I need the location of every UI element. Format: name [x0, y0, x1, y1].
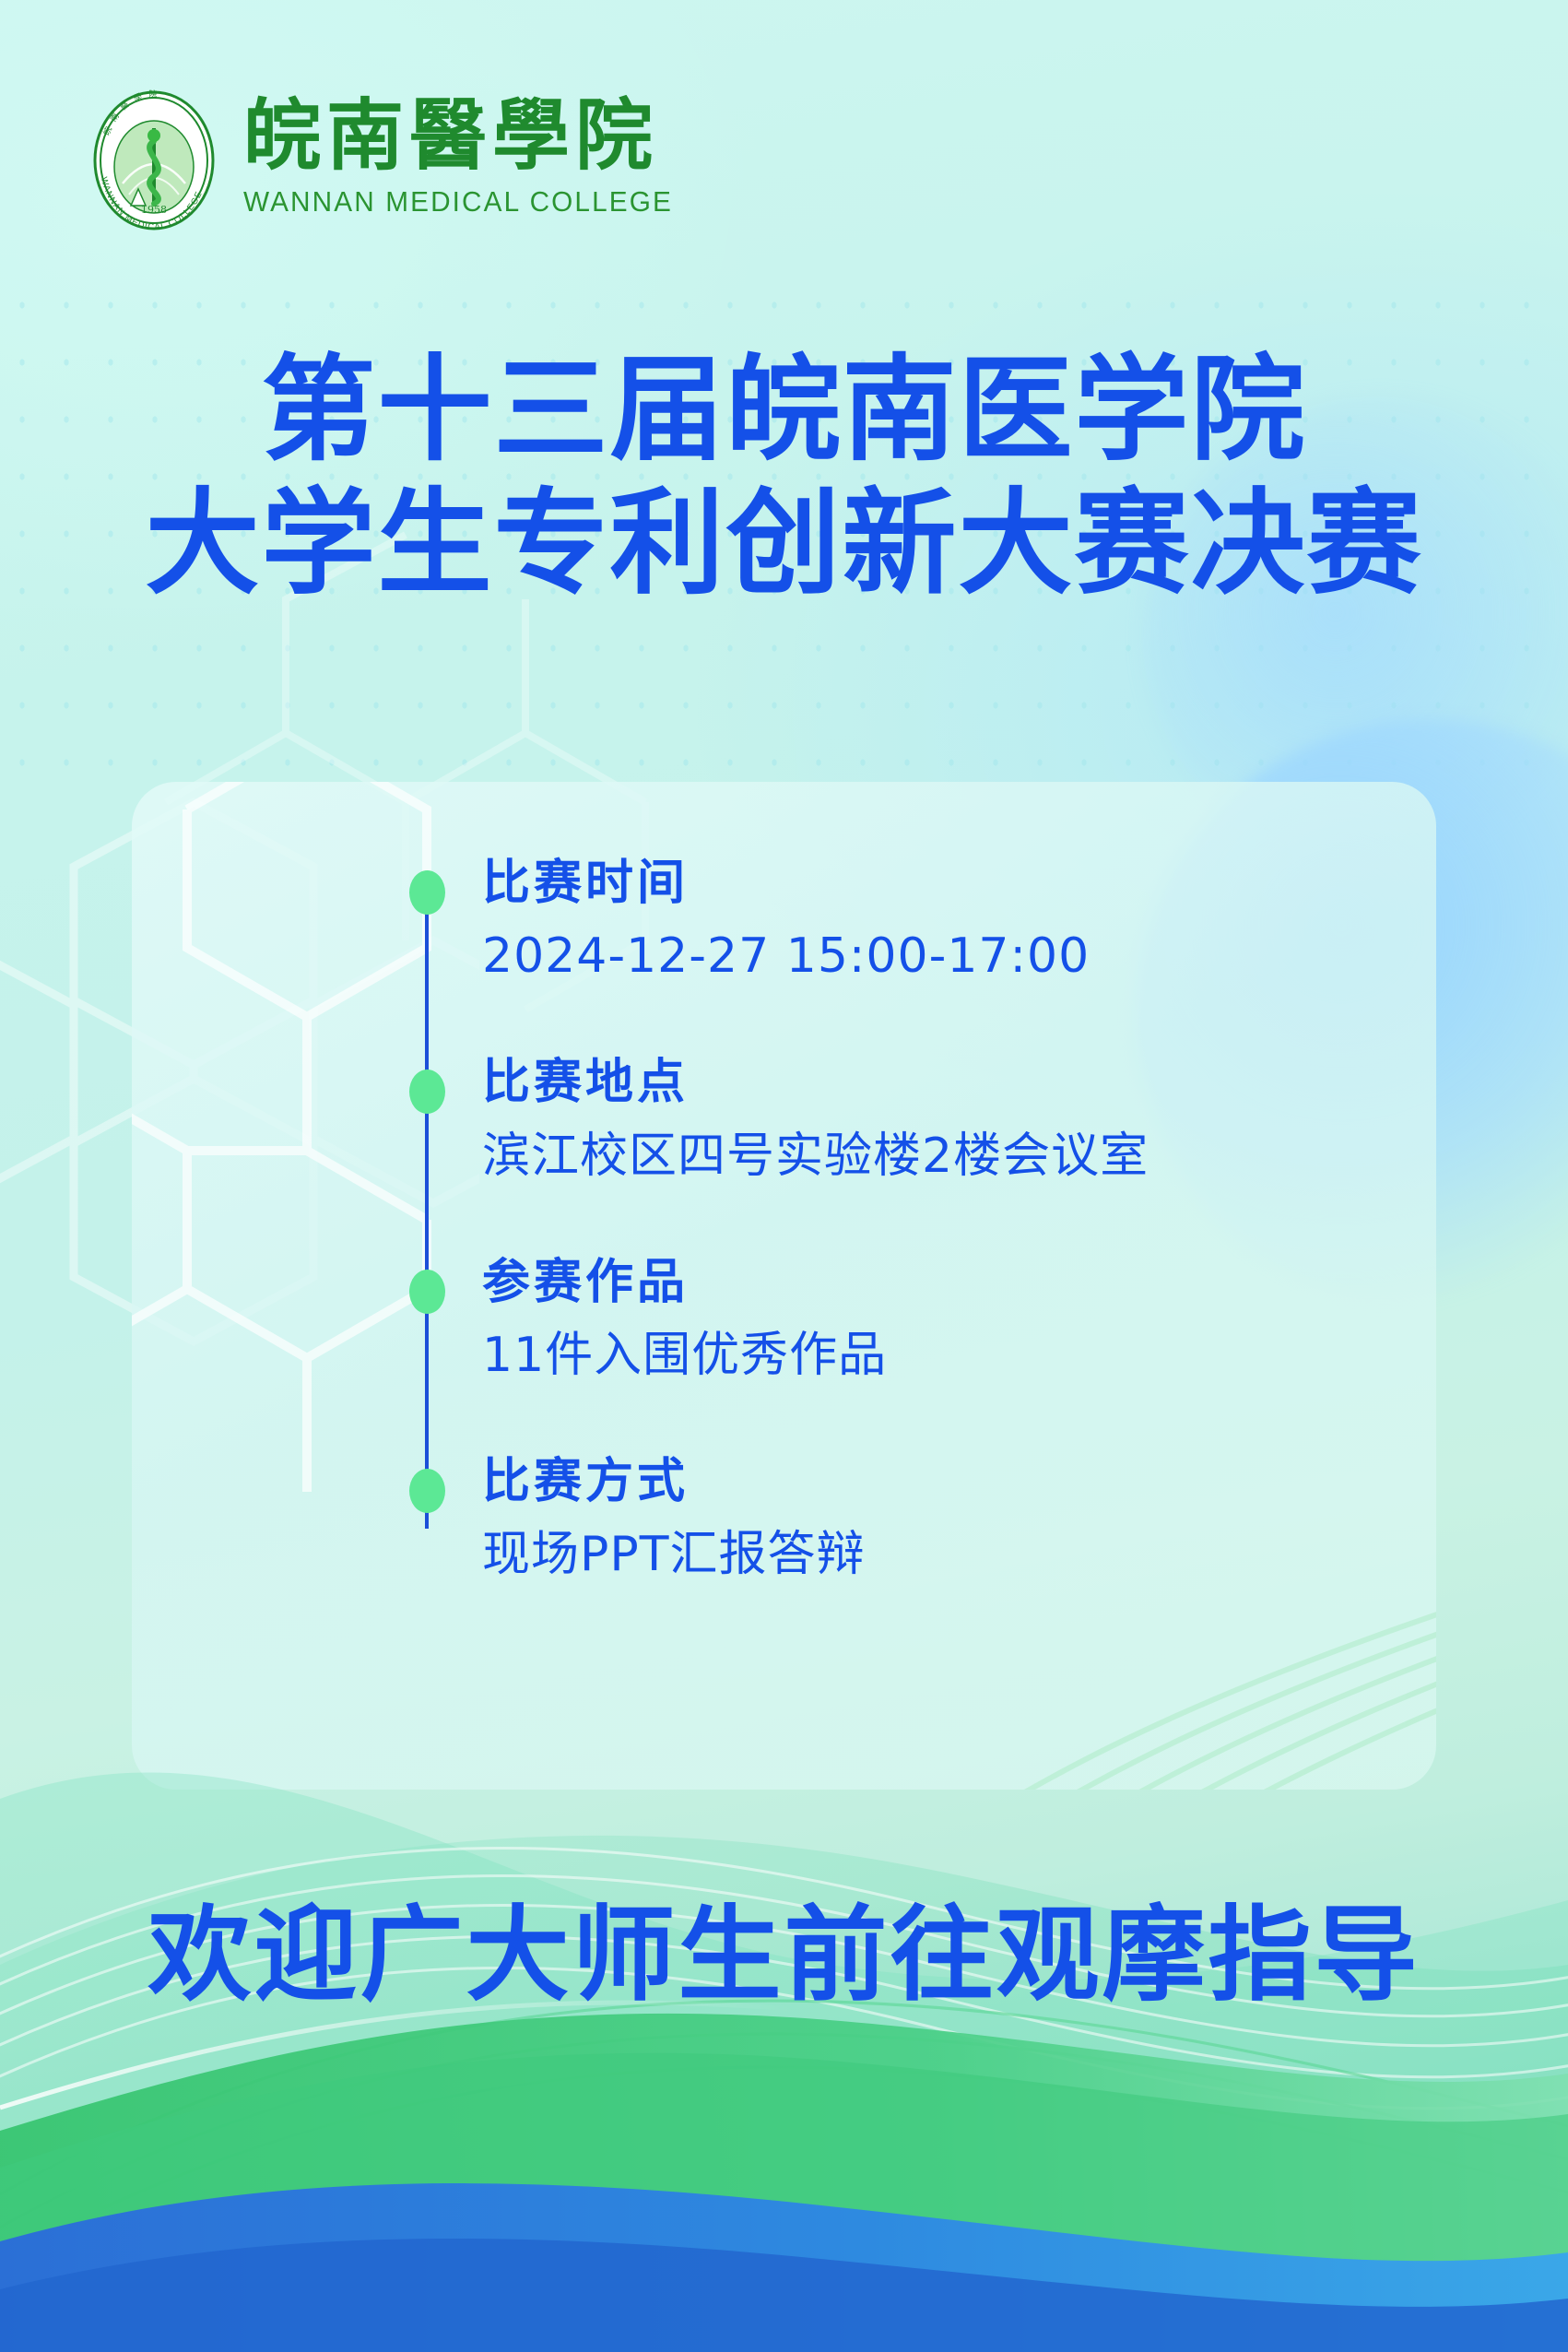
timeline-dot-icon — [409, 1469, 445, 1513]
title-line-1: 第十三届皖南医学院 — [0, 350, 1568, 471]
list-item: 比赛时间 2024-12-27 15:00-17:00 — [270, 857, 1358, 983]
detail-value: 11件入围优秀作品 — [482, 1330, 1358, 1382]
poster-root: 皖 南 醫 學 院 WANNAN MEDICAL COLLEGE 1958 皖南… — [0, 0, 1568, 2352]
list-item: 参赛作品 11件入围优秀作品 — [270, 1257, 1358, 1382]
title-line-2: 大学生专利创新大赛决赛 — [0, 484, 1568, 605]
details-timeline: 比赛时间 2024-12-27 15:00-17:00 比赛地点 滨江校区四号实… — [270, 857, 1358, 1582]
college-logo: 皖 南 醫 學 院 WANNAN MEDICAL COLLEGE 1958 皖南… — [81, 88, 690, 233]
detail-label: 比赛时间 — [482, 857, 1358, 910]
detail-value: 滨江校区四号实验楼2楼会议室 — [482, 1130, 1358, 1183]
detail-label: 比赛方式 — [482, 1456, 1358, 1508]
list-item: 比赛地点 滨江校区四号实验楼2楼会议室 — [270, 1057, 1358, 1182]
college-seal-icon: 皖 南 醫 學 院 WANNAN MEDICAL COLLEGE 1958 — [81, 88, 227, 233]
list-item: 比赛方式 现场PPT汇报答辩 — [270, 1456, 1358, 1581]
welcome-banner-text: 欢迎广大师生前往观摩指导 — [0, 1872, 1568, 2021]
detail-value: 现场PPT汇报答辩 — [482, 1529, 1358, 1581]
details-card: 比赛时间 2024-12-27 15:00-17:00 比赛地点 滨江校区四号实… — [132, 782, 1436, 1790]
timeline-rail — [425, 905, 429, 1529]
svg-text:1958: 1958 — [141, 204, 167, 216]
timeline-dot-icon — [409, 1070, 445, 1114]
college-name-en: WANNAN MEDICAL COLLEGE — [243, 185, 673, 219]
detail-label: 比赛地点 — [482, 1057, 1358, 1109]
page-title: 第十三届皖南医学院 大学生专利创新大赛决赛 — [0, 350, 1568, 606]
timeline-dot-icon — [409, 1270, 445, 1314]
college-wordmark: 皖南醫學院 WANNAN MEDICAL COLLEGE — [243, 88, 690, 219]
college-name-cn: 皖南醫學院 — [243, 97, 690, 174]
detail-value: 2024-12-27 15:00-17:00 — [482, 930, 1358, 983]
timeline-dot-icon — [409, 870, 445, 915]
detail-label: 参赛作品 — [482, 1257, 1358, 1309]
